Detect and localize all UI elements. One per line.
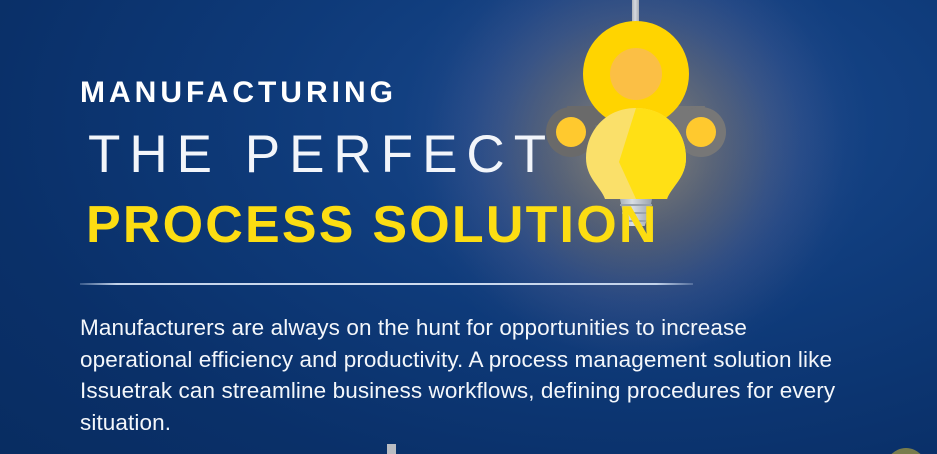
headline-line-thin: THE PERFECT (88, 128, 555, 181)
headline-line-bold: PROCESS SOLUTION (86, 199, 659, 251)
robotic-gripper-lightbulb-illustration (521, 0, 751, 226)
intro-paragraph: Manufacturers are always on the hunt for… (80, 312, 850, 438)
eyebrow-text: MANUFACTURING (80, 78, 397, 108)
below-fold-shape (884, 448, 928, 454)
headline-divider (80, 283, 693, 285)
below-fold-connector-bar (387, 444, 396, 454)
infographic-poster: MANUFACTURING THE PERFECT PROCESS SOLUTI… (0, 0, 937, 454)
